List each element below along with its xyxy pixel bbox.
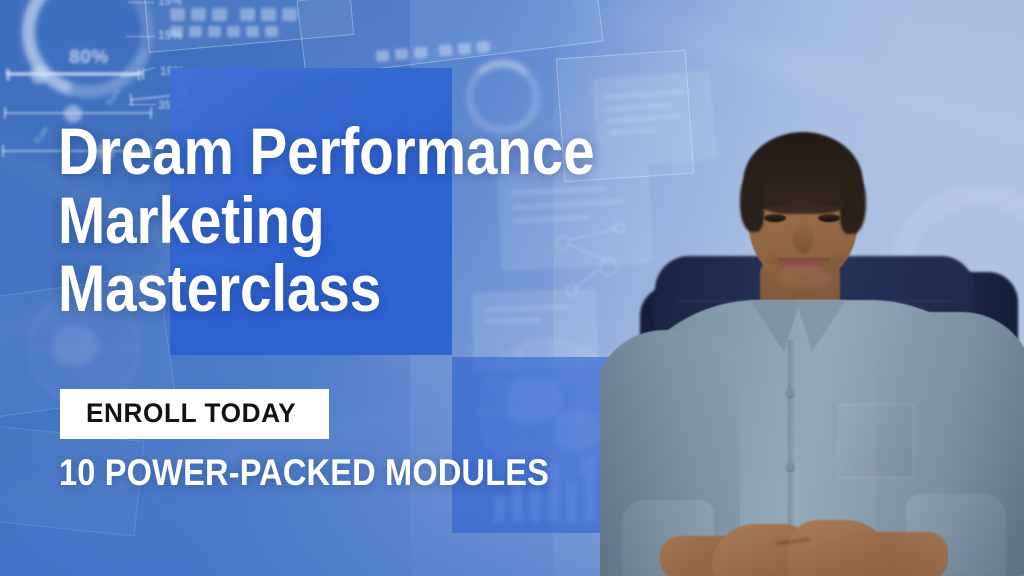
shirt-button bbox=[786, 462, 795, 471]
title-line-2: Marketing Masterclass bbox=[58, 186, 651, 323]
tile-row bbox=[170, 26, 278, 37]
enroll-today-badge[interactable]: ENROLL TODAY bbox=[60, 389, 329, 439]
donut-center-label: 80% bbox=[34, 47, 144, 69]
modules-subtitle: 10 POWER-PACKED MODULES bbox=[59, 452, 549, 494]
title-line-1: Dream Performance bbox=[58, 114, 595, 188]
slider-knob bbox=[30, 66, 48, 84]
presenter-photo bbox=[600, 0, 1024, 576]
enroll-today-label: ENROLL TODAY bbox=[86, 398, 296, 429]
shirt-button bbox=[786, 388, 795, 397]
chin-highlight bbox=[776, 268, 832, 288]
shirt-collar-right bbox=[796, 300, 846, 352]
smile-crease-right bbox=[832, 256, 842, 266]
tile-row bbox=[170, 8, 297, 21]
slider-track-1 bbox=[6, 73, 144, 75]
promo-banner: 80% 15% 15% 19% 35% Rate Rate bbox=[0, 0, 1024, 576]
page-title: Dream Performance Marketing Masterclass bbox=[58, 117, 651, 323]
nose bbox=[793, 222, 813, 254]
eye-left bbox=[764, 214, 786, 222]
eye-right bbox=[818, 214, 840, 222]
shirt-pocket bbox=[838, 404, 914, 478]
